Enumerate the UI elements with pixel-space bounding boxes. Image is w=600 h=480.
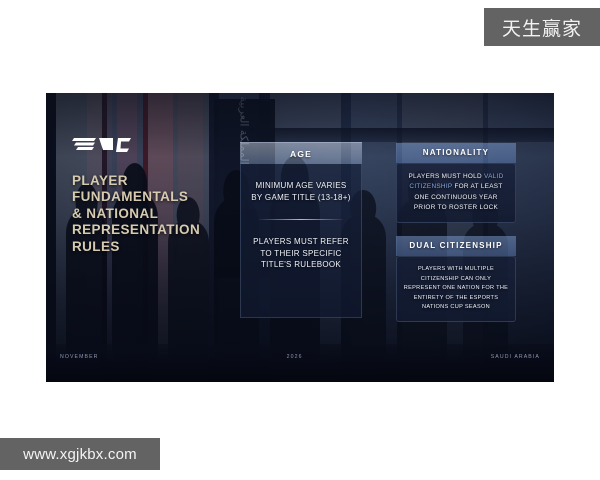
card-dual-citizenship-body: PLAYERS WITH MULTIPLE CITIZENSHIP CAN ON…: [396, 256, 516, 322]
title-line: PLAYER: [72, 173, 232, 189]
presentation-slide: المملكة العربية: [46, 93, 554, 382]
text-prefix: PLAYERS MUST HOLD: [409, 173, 484, 180]
footer-month: NOVEMBER: [60, 354, 99, 360]
title-line: FUNDAMENTALS: [72, 189, 232, 205]
title-line: REPRESENTATION: [72, 222, 232, 238]
card-nationality-header: NATIONALITY: [396, 143, 516, 163]
page-root: المملكة العربية: [0, 0, 600, 480]
title-line: RULES: [72, 239, 232, 255]
card-age-divider: [259, 219, 343, 220]
card-nationality-body: PLAYERS MUST HOLD VALID CITIZENSHIP FOR …: [396, 163, 516, 223]
enc-logo: [72, 135, 132, 155]
card-age-text-primary: MINIMUM AGE VARIES BY GAME TITLE (13-18+…: [249, 180, 353, 203]
card-age-text-secondary: PLAYERS MUST REFER TO THEIR SPECIFIC TIT…: [249, 236, 353, 271]
footer-location: SAUDI ARABIA: [491, 354, 540, 360]
card-nationality-text: PLAYERS MUST HOLD VALID CITIZENSHIP FOR …: [403, 172, 509, 214]
card-dual-citizenship-header: DUAL CITIZENSHIP: [396, 236, 516, 256]
top-right-badge: 天生赢家: [484, 8, 600, 46]
site-watermark: www.xgjkbx.com: [0, 438, 160, 470]
title-line: & NATIONAL: [72, 206, 232, 222]
card-dual-citizenship-text: PLAYERS WITH MULTIPLE CITIZENSHIP CAN ON…: [402, 265, 510, 313]
footer-year: 2026: [287, 354, 303, 360]
slide-title: PLAYER FUNDAMENTALS & NATIONAL REPRESENT…: [72, 173, 232, 255]
card-nationality: NATIONALITY PLAYERS MUST HOLD VALID CITI…: [396, 143, 516, 223]
card-age-header: AGE: [240, 142, 362, 164]
slide-footer: NOVEMBER 2026 SAUDI ARABIA: [46, 344, 554, 382]
card-dual-citizenship: DUAL CITIZENSHIP PLAYERS WITH MULTIPLE C…: [396, 236, 516, 322]
card-age-body: MINIMUM AGE VARIES BY GAME TITLE (13-18+…: [240, 164, 362, 318]
card-age: AGE MINIMUM AGE VARIES BY GAME TITLE (13…: [240, 142, 362, 318]
